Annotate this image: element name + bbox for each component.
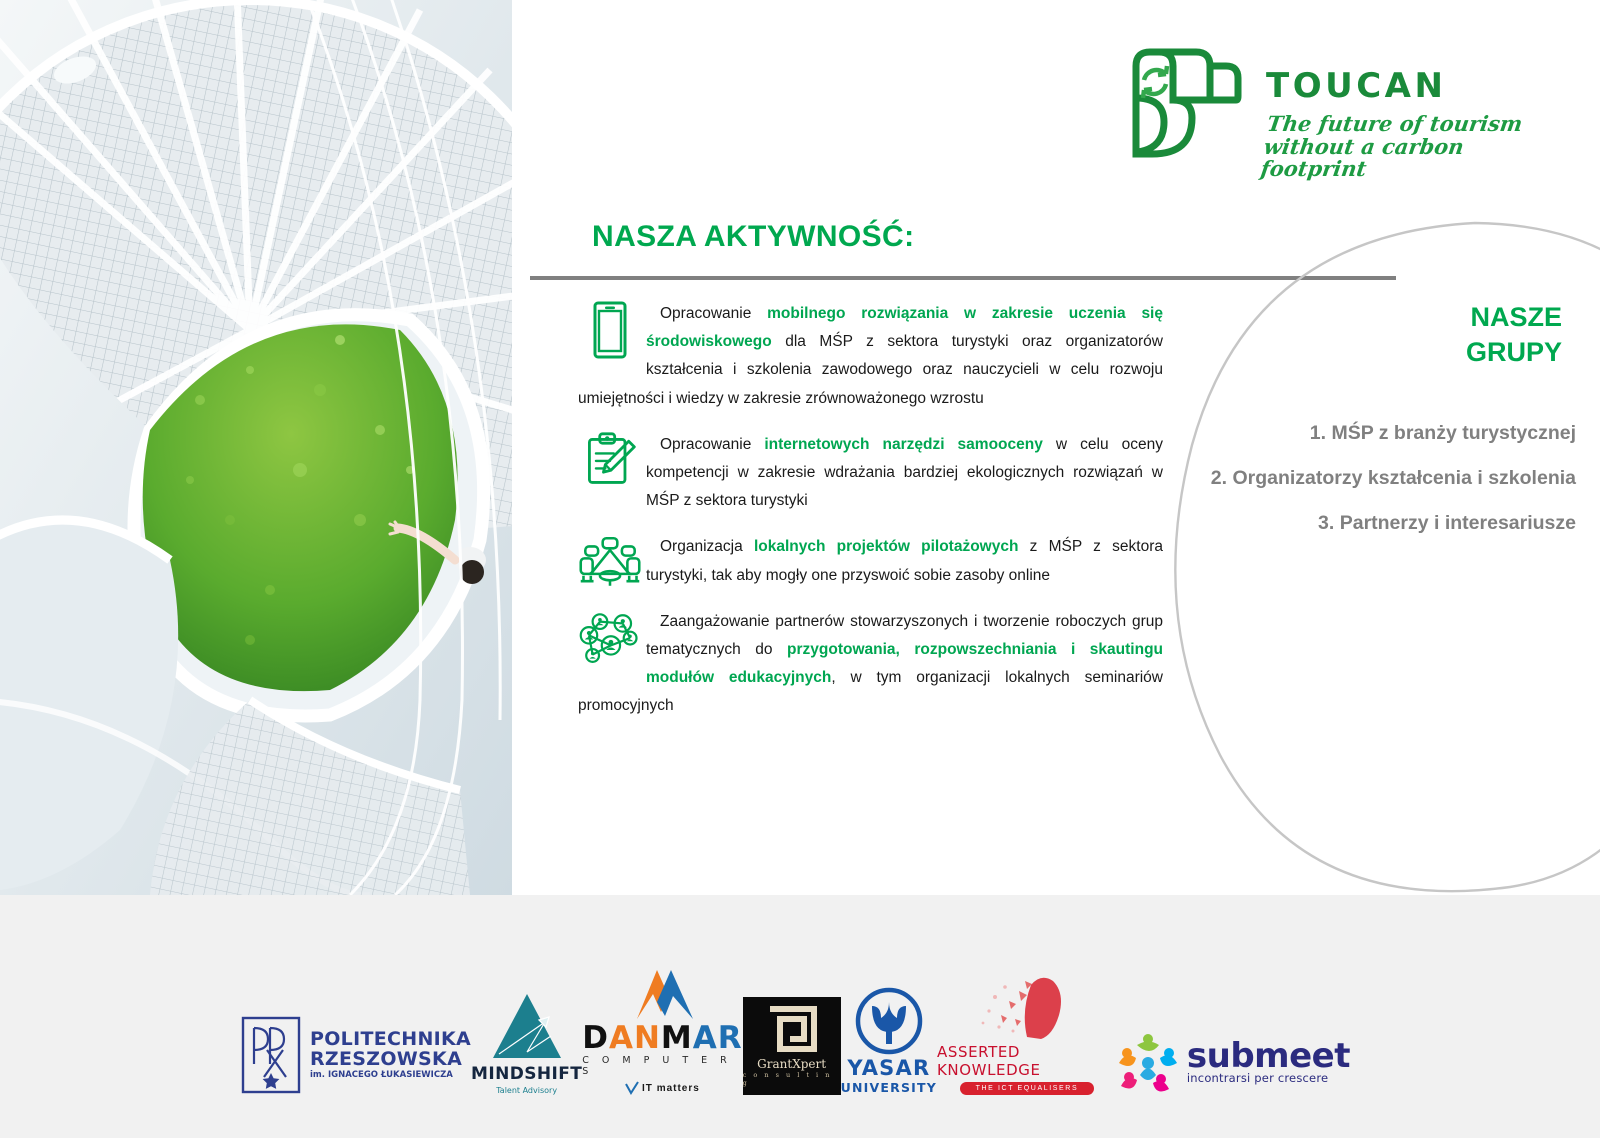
partner-name: ASSERTED KNOWLEDGE bbox=[937, 1043, 1117, 1079]
activity-text: Organizacja lokalnych projektów pilotażo… bbox=[578, 533, 1163, 589]
partner-name-line2: RZESZOWSKA bbox=[310, 1050, 471, 1070]
page-title: NASZA AKTYWNOŚĆ: bbox=[592, 220, 914, 254]
partner-name: submeet bbox=[1187, 1041, 1350, 1072]
partner-tagline: incontrarsi per crescere bbox=[1187, 1071, 1328, 1085]
activity-text: Opracowanie internetowych narzędzi samoo… bbox=[578, 431, 1163, 516]
groups-title-line2: GRUPY bbox=[1180, 335, 1562, 370]
brand-name: TOUCAN bbox=[1266, 66, 1446, 106]
partner-tagline: Talent Advisory bbox=[496, 1086, 557, 1095]
partner-name-line1: POLITECHNIKA bbox=[310, 1030, 471, 1050]
activities-list: Opracowanie mobilnego rozwiązania w zakr… bbox=[578, 300, 1163, 739]
partner-extra-label: IT matters bbox=[642, 1083, 700, 1094]
asserted-face-shards-icon bbox=[975, 971, 1079, 1043]
activity-text: Opracowanie mobilnego rozwiązania w zakr… bbox=[578, 300, 1163, 413]
submeet-people-circle-icon bbox=[1117, 1031, 1179, 1095]
check-icon bbox=[625, 1081, 639, 1095]
partner-tagline: THE ICT EQUALISERS bbox=[960, 1082, 1095, 1095]
clipboard-pencil-icon bbox=[578, 431, 642, 489]
partner-name-line2: UNIVERSITY bbox=[841, 1080, 937, 1095]
partner-extra: IT matters bbox=[625, 1081, 700, 1095]
hero-photo bbox=[0, 0, 512, 895]
danmar-peaks-icon bbox=[597, 964, 727, 1024]
mindshift-triangle-icon bbox=[487, 992, 567, 1064]
partner-logo-yasar-university: YASAR UNIVERSITY bbox=[841, 986, 937, 1095]
hero-photo-illustration bbox=[0, 0, 512, 895]
partner-logos: POLITECHNIKA RZESZOWSKA im. IGNACEGO ŁUK… bbox=[240, 945, 1350, 1095]
activity-item: Opracowanie internetowych narzędzi samoo… bbox=[578, 431, 1163, 516]
brand-tagline-line2: without a carbon footprint bbox=[1259, 136, 1535, 181]
partner-name: GrantXpert bbox=[757, 1057, 826, 1071]
groups-list: 1. MŚP z branży turystycznej 2. Organiza… bbox=[1180, 421, 1580, 536]
activity-item: Organizacja lokalnych projektów pilotażo… bbox=[578, 533, 1163, 589]
grantxpert-mark: GrantXpert c o n s u l t i n g bbox=[743, 997, 841, 1095]
brand-tagline-line1: The future of tourism bbox=[1266, 113, 1539, 136]
partner-logo-submeet: submeet incontrarsi per crescere bbox=[1117, 1031, 1350, 1095]
brand-tagline: The future of tourism without a carbon f… bbox=[1259, 113, 1539, 181]
partner-name-line3: im. IGNACEGO ŁUKASIEWICZA bbox=[310, 1071, 471, 1080]
groups-title: NASZE GRUPY bbox=[1180, 300, 1580, 369]
partner-logo-danmar-computers: DANMAR C O M P U T E R S IT matters bbox=[582, 964, 742, 1095]
partner-logo-politechnika-rzeszowska: POLITECHNIKA RZESZOWSKA im. IGNACEGO ŁUK… bbox=[240, 1015, 471, 1095]
partner-name: DANMAR bbox=[582, 1024, 742, 1053]
groups-title-line1: NASZE bbox=[1180, 300, 1562, 335]
target-groups-panel: NASZE GRUPY 1. MŚP z branży turystycznej… bbox=[1180, 300, 1580, 555]
toucan-bird-recycle-icon bbox=[1118, 38, 1248, 168]
group-item: 3. Partnerzy i interesariusze bbox=[1180, 511, 1580, 537]
group-item: 2. Organizatorzy kształcenia i szkolenia bbox=[1180, 466, 1580, 492]
politechnika-crest-icon bbox=[240, 1015, 302, 1095]
people-network-icon bbox=[578, 608, 642, 670]
partner-footer: POLITECHNIKA RZESZOWSKA im. IGNACEGO ŁUK… bbox=[0, 895, 1600, 1138]
activity-item: Opracowanie mobilnego rozwiązania w zakr… bbox=[578, 300, 1163, 413]
partner-logo-grantxpert-consulting: GrantXpert c o n s u l t i n g bbox=[743, 997, 841, 1095]
yasar-tulip-icon bbox=[854, 986, 924, 1056]
group-item: 1. MŚP z branży turystycznej bbox=[1180, 421, 1580, 447]
partner-name-line1: YASAR bbox=[847, 1056, 930, 1080]
activity-item: Zaangażowanie partnerów stowarzyszonych … bbox=[578, 608, 1163, 721]
toucan-logo: TOUCAN The future of tourism without a c… bbox=[1118, 38, 1538, 183]
partner-sub: C O M P U T E R S bbox=[582, 1055, 742, 1077]
partner-logo-mindshift: MINDSHIFT Talent Advisory bbox=[471, 992, 582, 1095]
partner-sub: c o n s u l t i n g bbox=[743, 1071, 841, 1087]
partner-name: MINDSHIFT bbox=[471, 1064, 582, 1084]
partner-logo-asserted-knowledge: ASSERTED KNOWLEDGE THE ICT EQUALISERS bbox=[937, 971, 1117, 1095]
activity-text: Zaangażowanie partnerów stowarzyszonych … bbox=[578, 608, 1163, 721]
meeting-table-icon bbox=[578, 533, 642, 591]
grantxpert-g-icon bbox=[766, 1005, 818, 1053]
mobile-phone-icon bbox=[578, 300, 642, 362]
